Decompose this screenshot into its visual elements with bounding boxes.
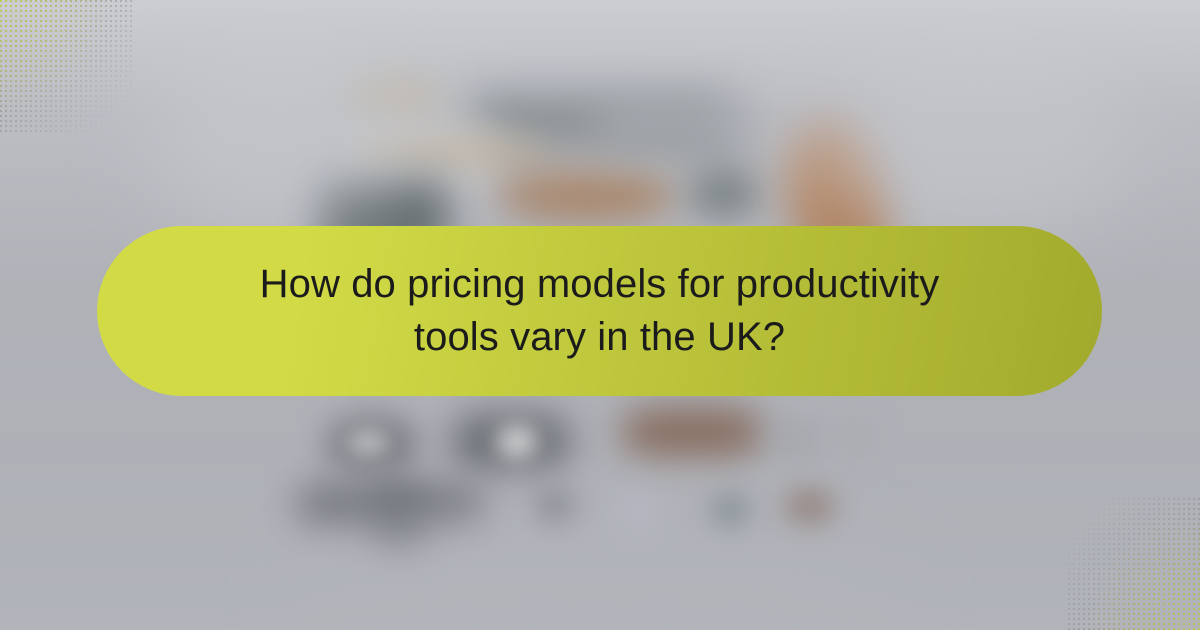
question-card-canvas: How do pricing models for productivity t… xyxy=(0,0,1200,630)
headline-pill: How do pricing models for productivity t… xyxy=(97,226,1102,396)
headline-text: How do pricing models for productivity t… xyxy=(235,258,965,364)
